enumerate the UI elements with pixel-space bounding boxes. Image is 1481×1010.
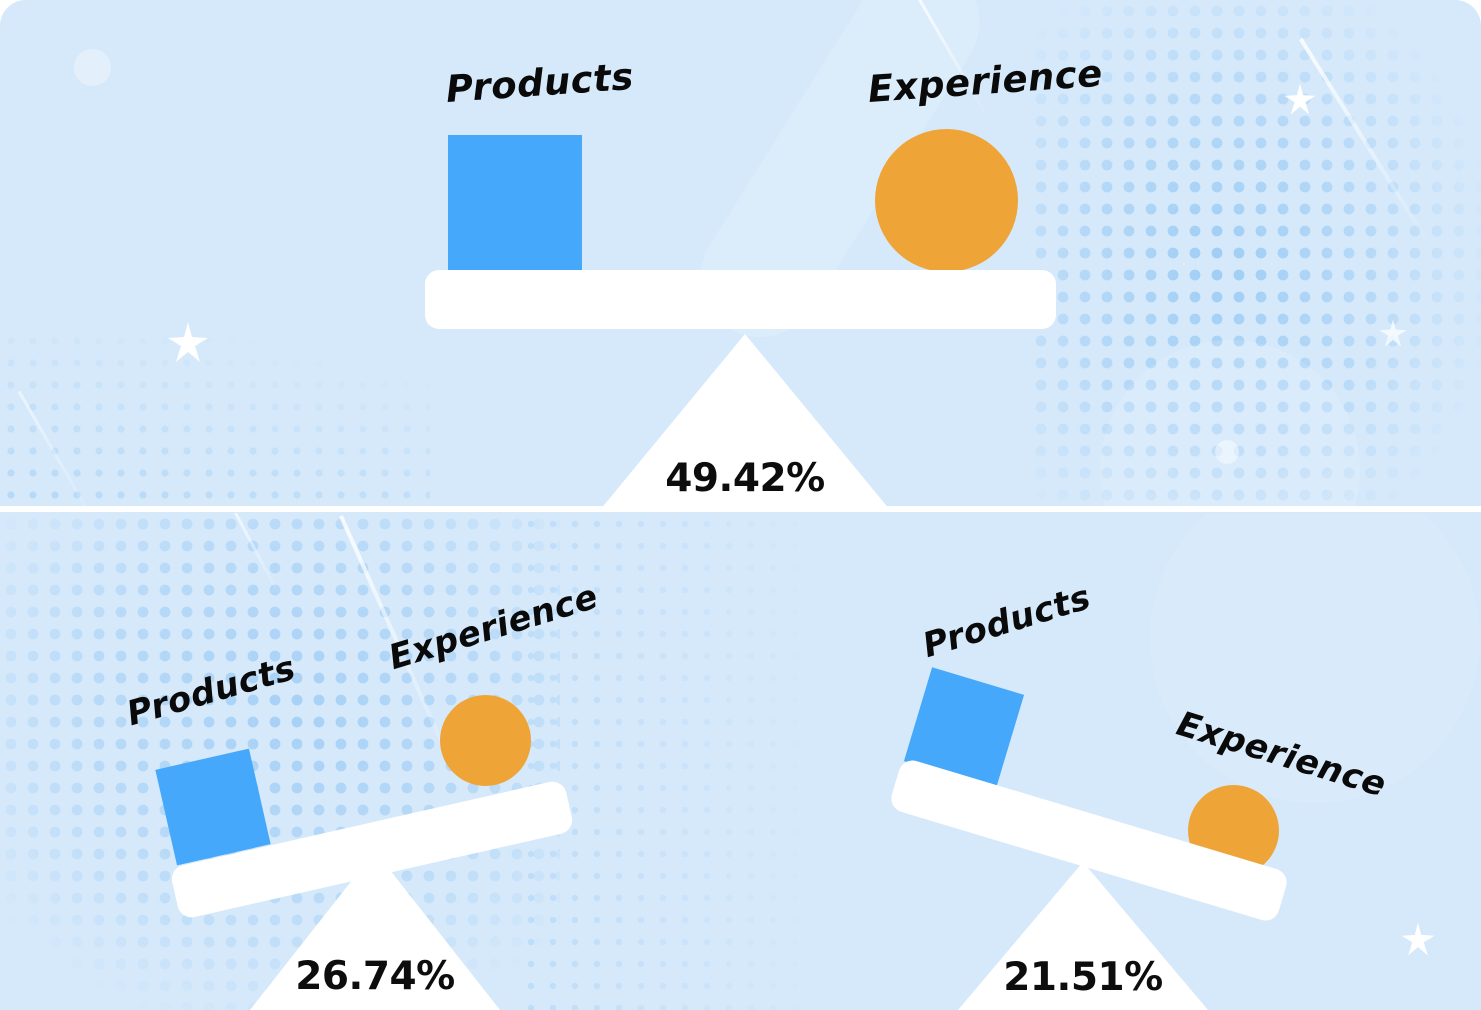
experience-weight-circle [875, 129, 1018, 272]
products-weight-square [448, 135, 582, 270]
panel-balanced-scale: Products Experience 49.42% [0, 0, 1481, 508]
balance-beam [425, 270, 1056, 329]
percent-value-products-heavier: 21.51% [958, 955, 1208, 1000]
panel-divider [0, 506, 1481, 512]
experience-weight-circle [440, 695, 531, 786]
percent-value-balanced: 49.42% [600, 456, 890, 501]
panel-tilted-scales: Products Experience 26.74% Products Expe… [0, 513, 1481, 1010]
percent-value-experience-heavier: 26.74% [250, 954, 500, 999]
infographic-canvas: Products Experience 49.42% [0, 0, 1481, 1010]
